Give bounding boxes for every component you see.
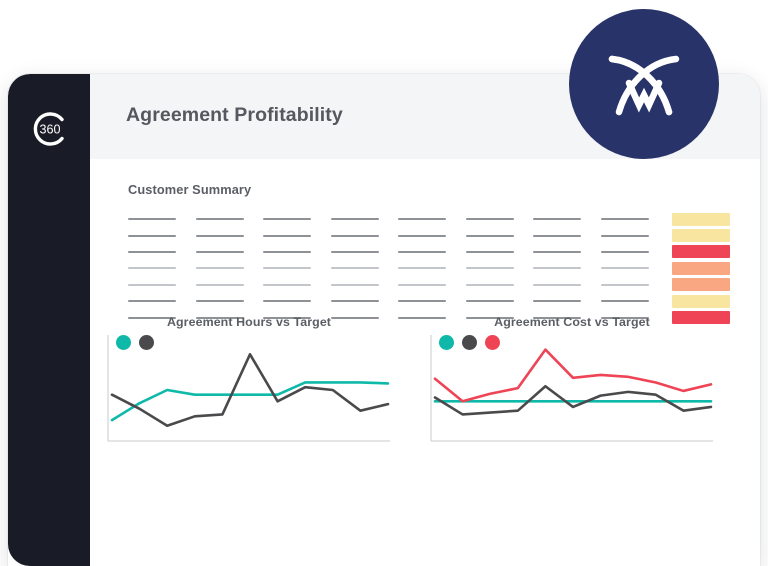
- table-cell-placeholder: [263, 235, 311, 237]
- placeholder-bar: [398, 267, 446, 269]
- status-badge: [672, 229, 730, 242]
- placeholder-bar: [466, 251, 514, 253]
- table-cell-placeholder: [601, 284, 649, 286]
- table-cell-placeholder: [196, 267, 244, 269]
- table-cell-placeholder: [466, 284, 514, 286]
- placeholder-bar: [263, 251, 311, 253]
- placeholder-bar: [263, 235, 311, 237]
- table-cell-placeholder: [533, 235, 581, 237]
- placeholder-bar: [533, 300, 581, 302]
- table-cell-placeholder: [263, 300, 311, 302]
- placeholder-bar: [601, 251, 649, 253]
- badge-text: 360: [39, 123, 60, 137]
- placeholder-bar: [263, 300, 311, 302]
- company-logo: [569, 9, 719, 159]
- table-cell-placeholder: [398, 251, 446, 253]
- chart-title: Agreement Cost vs Target: [425, 315, 719, 329]
- table-cell-placeholder: [533, 218, 581, 220]
- placeholder-bar: [398, 218, 446, 220]
- placeholder-bar: [263, 284, 311, 286]
- status-badge: [672, 245, 730, 258]
- placeholder-bar: [331, 284, 379, 286]
- status-badge: [672, 213, 730, 226]
- table-cell-placeholder: [331, 284, 379, 286]
- placeholder-bar: [398, 300, 446, 302]
- table-cell-placeholder: [601, 267, 649, 269]
- table-cell-placeholder: [533, 300, 581, 302]
- table-cell-placeholder: [331, 300, 379, 302]
- placeholder-bar: [196, 218, 244, 220]
- table-cell-placeholder: [466, 267, 514, 269]
- placeholder-bar: [533, 267, 581, 269]
- table-cell-placeholder: [331, 218, 379, 220]
- table-cell-placeholder: [398, 267, 446, 269]
- placeholder-bar: [331, 267, 379, 269]
- chart-plot-area: [102, 335, 390, 453]
- placeholder-bar: [196, 235, 244, 237]
- table-cell-placeholder: [196, 300, 244, 302]
- table-cell-placeholder: [128, 235, 176, 237]
- table-cell-placeholder: [466, 300, 514, 302]
- table-cell-placeholder: [196, 251, 244, 253]
- table-cell-placeholder: [398, 300, 446, 302]
- table-cell-placeholder: [601, 218, 649, 220]
- table-cell-placeholder: [128, 251, 176, 253]
- table-cell-placeholder: [533, 284, 581, 286]
- table-row[interactable]: [128, 227, 724, 243]
- status-badge: [672, 262, 730, 275]
- table-cell-placeholder: [601, 251, 649, 253]
- placeholder-bar: [196, 267, 244, 269]
- table-cell-placeholder: [128, 300, 176, 302]
- placeholder-bar: [466, 235, 514, 237]
- table-row[interactable]: [128, 244, 724, 260]
- table-row[interactable]: [128, 211, 724, 227]
- chart-axes: [108, 335, 390, 441]
- table-cell-placeholder: [398, 235, 446, 237]
- placeholder-bar: [128, 251, 176, 253]
- table-cell-placeholder: [466, 251, 514, 253]
- table-cell-placeholder: [331, 235, 379, 237]
- table-cell-placeholder: [128, 218, 176, 220]
- placeholder-bar: [331, 218, 379, 220]
- placeholder-bar: [466, 218, 514, 220]
- table-cell-placeholder: [466, 235, 514, 237]
- customer-summary-table: [128, 211, 724, 326]
- table-row[interactable]: [128, 277, 724, 293]
- table-cell-placeholder: [263, 218, 311, 220]
- placeholder-bar: [398, 235, 446, 237]
- table-cell-placeholder: [196, 218, 244, 220]
- placeholder-bar: [263, 218, 311, 220]
- placeholder-bar: [331, 251, 379, 253]
- table-cell-placeholder: [466, 218, 514, 220]
- table-cell-placeholder: [533, 251, 581, 253]
- placeholder-bar: [601, 235, 649, 237]
- table-cell-placeholder: [128, 267, 176, 269]
- placeholder-bar: [196, 251, 244, 253]
- table-cell-placeholder: [331, 267, 379, 269]
- table-cell-placeholder: [263, 267, 311, 269]
- placeholder-bar: [533, 218, 581, 220]
- table-cell-placeholder: [601, 235, 649, 237]
- placeholder-bar: [128, 284, 176, 286]
- chart-plot-area: [425, 335, 713, 453]
- placeholder-bar: [601, 300, 649, 302]
- placeholder-bar: [128, 235, 176, 237]
- placeholder-bar: [466, 267, 514, 269]
- placeholder-bar: [331, 235, 379, 237]
- page-title: Agreement Profitability: [126, 104, 343, 127]
- status-badge: [672, 295, 730, 308]
- section-title: Customer Summary: [128, 182, 251, 197]
- series-line-cost: [435, 350, 711, 402]
- chart-agreement-cost: Agreement Cost vs Target: [425, 315, 719, 455]
- placeholder-bar: [263, 267, 311, 269]
- content-area: Customer Summary Agreement Hours vs Targ…: [90, 159, 760, 566]
- placeholder-bar: [601, 284, 649, 286]
- placeholder-bar: [466, 284, 514, 286]
- placeholder-bar: [601, 267, 649, 269]
- placeholder-bar: [196, 284, 244, 286]
- placeholder-bar: [533, 251, 581, 253]
- placeholder-bar: [128, 267, 176, 269]
- table-cell-placeholder: [196, 235, 244, 237]
- table-cell-placeholder: [128, 284, 176, 286]
- table-cell-placeholder: [263, 284, 311, 286]
- status-badge: [672, 278, 730, 291]
- table-cell-placeholder: [601, 300, 649, 302]
- table-row[interactable]: [128, 293, 724, 309]
- placeholder-bar: [128, 300, 176, 302]
- placeholder-bar: [601, 218, 649, 220]
- series-line-actual: [112, 354, 388, 425]
- table-cell-placeholder: [196, 284, 244, 286]
- chart-agreement-hours: Agreement Hours vs Target: [102, 315, 396, 455]
- chart-title: Agreement Hours vs Target: [102, 315, 396, 329]
- connectwise-360-badge: 360: [29, 108, 71, 150]
- placeholder-bar: [533, 284, 581, 286]
- table-row[interactable]: [128, 260, 724, 276]
- placeholder-bar: [533, 235, 581, 237]
- placeholder-bar: [331, 300, 379, 302]
- placeholder-bar: [466, 300, 514, 302]
- table-cell-placeholder: [398, 218, 446, 220]
- table-cell-placeholder: [263, 251, 311, 253]
- placeholder-bar: [196, 300, 244, 302]
- placeholder-bar: [398, 284, 446, 286]
- table-cell-placeholder: [533, 267, 581, 269]
- sidebar: 360: [8, 74, 90, 566]
- placeholder-bar: [398, 251, 446, 253]
- placeholder-bar: [128, 218, 176, 220]
- table-cell-placeholder: [398, 284, 446, 286]
- table-cell-placeholder: [331, 251, 379, 253]
